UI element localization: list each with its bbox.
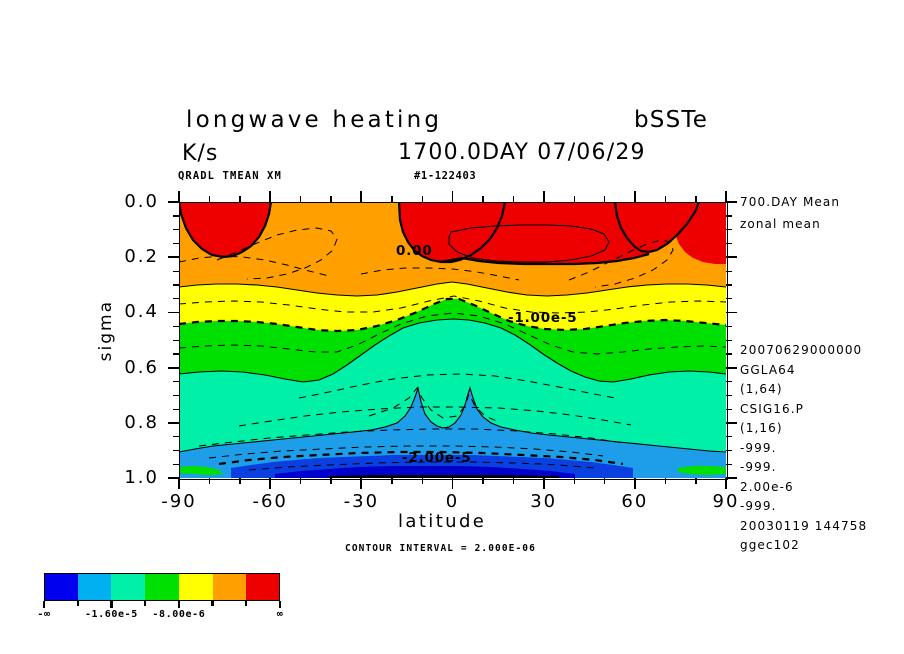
contour-interval-note: CONTOUR INTERVAL = 2.000E-06 [345, 543, 536, 554]
colorbar-tick-minor [178, 601, 180, 606]
x-tick-minor [574, 478, 575, 484]
colorbar-band [179, 573, 213, 601]
y-tick-minor [726, 464, 732, 465]
y-tick-label: 1.0 [99, 467, 159, 488]
meta-grid-range: (1,64) [740, 382, 867, 396]
x-tick-minor-top [665, 196, 666, 202]
meta-value-1: -999. [740, 441, 867, 455]
colorbar-tick-minor [245, 601, 247, 606]
x-tick-minor-top [513, 196, 514, 202]
y-tick-minor [726, 353, 732, 354]
x-tick-major [269, 478, 271, 489]
colorbar [44, 573, 280, 601]
y-tick-minor [726, 243, 732, 244]
annotation-mean-period: 700.DAY Mean [740, 195, 840, 209]
y-tick-major-right [726, 477, 737, 479]
x-tick-major [634, 478, 636, 489]
y-tick-minor [173, 243, 179, 244]
x-tick-minor-top [209, 196, 210, 202]
colorbar-tick-label: -8.00e-6 [152, 609, 205, 620]
y-tick-major-right [726, 312, 737, 314]
x-tick-label: -60 [240, 491, 300, 512]
meta-value-3: -999. [740, 499, 867, 513]
x-tick-minor [239, 478, 240, 484]
x-tick-major [360, 478, 362, 489]
x-tick-label: 0 [423, 491, 483, 512]
x-tick-minor [695, 478, 696, 484]
x-tick-label: 30 [514, 491, 574, 512]
meta-level-range: (1,16) [740, 421, 867, 435]
y-tick-minor [726, 229, 732, 230]
x-tick-minor-top [604, 196, 605, 202]
x-tick-minor [300, 478, 301, 484]
colorbar-tick [279, 601, 281, 608]
units-label: K/s [182, 141, 218, 166]
x-tick-major-top [452, 191, 454, 202]
x-tick-label: -30 [331, 491, 391, 512]
x-tick-minor-top [391, 196, 392, 202]
y-tick-minor [173, 326, 179, 327]
y-tick-minor [726, 215, 732, 216]
meta-created: 20030119 144758 [740, 519, 867, 533]
x-tick-minor-top [239, 196, 240, 202]
x-axis-title: latitude [398, 511, 486, 532]
x-tick-major-top [360, 191, 362, 202]
y-tick-minor [173, 298, 179, 299]
colorbar-band [145, 573, 179, 601]
x-tick-minor [604, 478, 605, 484]
x-tick-major-top [634, 191, 636, 202]
annotation-zonal-mean: zonal mean [740, 217, 840, 231]
y-tick-major [168, 256, 179, 258]
y-tick-minor [726, 298, 732, 299]
timestamp-label: 1700.0DAY 07/06/29 [398, 140, 646, 165]
y-tick-minor [726, 450, 732, 451]
colorbar-tick-minor [110, 601, 112, 606]
x-tick-major [725, 478, 727, 489]
y-tick-major [168, 367, 179, 369]
experiment-label: bSSTe [634, 107, 708, 133]
y-tick-minor [726, 340, 732, 341]
y-tick-minor [726, 409, 732, 410]
colorbar-band [111, 573, 145, 601]
x-tick-major-top [543, 191, 545, 202]
x-tick-minor [513, 478, 514, 484]
x-tick-minor-top [330, 196, 331, 202]
y-tick-minor [173, 229, 179, 230]
colorbar-tick-minor [211, 601, 213, 606]
x-tick-minor [209, 478, 210, 484]
y-tick-minor [173, 450, 179, 451]
x-tick-minor [482, 478, 483, 484]
y-tick-minor [173, 395, 179, 396]
colorbar-tick-label: ∞ [277, 609, 284, 620]
x-tick-minor-top [422, 196, 423, 202]
y-tick-minor [173, 271, 179, 272]
y-tick-minor [173, 409, 179, 410]
x-tick-major [452, 478, 454, 489]
x-tick-minor-top [695, 196, 696, 202]
contour-label-neg2e5: -2.00e-5 [402, 450, 471, 466]
y-tick-major [168, 422, 179, 424]
colorbar-band [78, 573, 112, 601]
contour-label-zero: 0.00 [396, 243, 433, 259]
colorbar-band [246, 573, 280, 601]
x-tick-major-top [725, 191, 727, 202]
y-tick-major-right [726, 422, 737, 424]
x-tick-minor [330, 478, 331, 484]
x-tick-minor [665, 478, 666, 484]
run-id-label: #1-122403 [414, 170, 476, 182]
x-tick-minor-top [574, 196, 575, 202]
right-annotation-top: 700.DAY Mean zonal mean [740, 195, 840, 239]
y-tick-major-right [726, 201, 737, 203]
colorbar-tick-minor [77, 601, 79, 606]
x-tick-minor-top [300, 196, 301, 202]
y-tick-minor [173, 215, 179, 216]
right-annotation-metadata: 20070629000000 GGLA64 (1,64) CSIG16.P (1… [740, 343, 867, 558]
y-tick-minor [726, 271, 732, 272]
page-title: longwave heating [186, 107, 442, 133]
meta-interval: 2.00e-6 [740, 480, 867, 494]
y-tick-minor [726, 284, 732, 285]
y-axis-title: sigma [96, 300, 116, 361]
contour-plot [179, 202, 726, 478]
contour-label-neg1e5: -1.00e-5 [508, 310, 577, 326]
x-tick-minor [391, 478, 392, 484]
contour-field [179, 202, 726, 478]
y-tick-minor [173, 464, 179, 465]
colorbar-band [44, 573, 78, 601]
colorbar-tick [43, 601, 45, 608]
y-tick-minor [726, 436, 732, 437]
y-tick-major-right [726, 256, 737, 258]
x-tick-minor [422, 478, 423, 484]
y-tick-minor [726, 326, 732, 327]
colorbar-band [213, 573, 247, 601]
y-tick-label: 0.0 [99, 191, 159, 212]
x-tick-major [543, 478, 545, 489]
y-tick-label: 0.8 [99, 412, 159, 433]
colorbar-tick-minor [144, 601, 146, 606]
meta-datetime: 20070629000000 [740, 343, 867, 357]
meta-value-2: -999. [740, 460, 867, 474]
variable-label: QRADL TMEAN XM [178, 170, 282, 182]
y-tick-minor [173, 284, 179, 285]
y-tick-minor [726, 395, 732, 396]
y-tick-major-right [726, 367, 737, 369]
x-tick-label: 60 [605, 491, 665, 512]
x-tick-major-top [269, 191, 271, 202]
y-tick-minor [173, 353, 179, 354]
x-tick-major [178, 478, 180, 489]
meta-level-name: CSIG16.P [740, 402, 867, 416]
x-tick-major-top [178, 191, 180, 202]
colorbar-tick-label: -∞ [37, 609, 50, 620]
y-tick-minor [173, 312, 179, 313]
x-tick-label: -90 [149, 491, 209, 512]
y-tick-minor [726, 381, 732, 382]
meta-grid-name: GGLA64 [740, 363, 867, 377]
y-tick-minor [173, 340, 179, 341]
x-tick-minor-top [482, 196, 483, 202]
y-tick-label: 0.2 [99, 246, 159, 267]
y-tick-minor [173, 436, 179, 437]
y-tick-minor [173, 381, 179, 382]
colorbar-tick-label: -1.60e-5 [85, 609, 138, 620]
meta-user: ggec102 [740, 538, 867, 552]
